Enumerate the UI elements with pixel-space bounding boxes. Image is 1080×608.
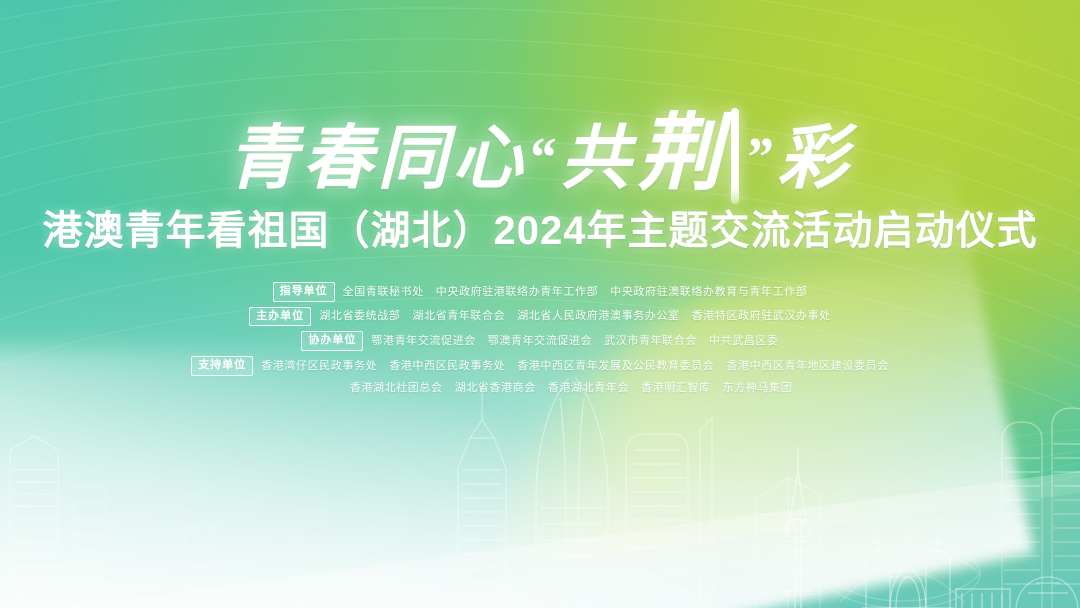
main-title-accent: 荆 (635, 108, 728, 201)
main-title-part3: 彩 (778, 121, 853, 198)
poster-content: 青春同心“共荆”彩 港澳青年看祖国（湖北）2024年主题交流活动启动仪式 指导单… (0, 0, 1080, 608)
main-title-part2: 共 (560, 121, 635, 198)
credit-label-coorganizer: 协办单位 (301, 331, 363, 351)
credit-row: 协办单位 鄂港青年交流促进会鄂澳青年交流促进会武汉市青年联合会中共武昌区委 (301, 331, 778, 351)
brush-stroke-accent (731, 108, 739, 204)
credit-label-guidance: 指导单位 (273, 282, 335, 302)
subtitle: 港澳青年看祖国（湖北）2024年主题交流活动启动仪式 (0, 208, 1080, 254)
main-title: 青春同心“共荆”彩 (0, 108, 1080, 197)
quote-open: “ (527, 127, 560, 189)
main-title-part1: 青春同心 (227, 121, 527, 198)
credit-row: 主办单位 湖北省委统战部湖北省青年联合会湖北省人民政府港澳事务办公室香港特区政府… (249, 307, 831, 327)
credit-orgs-coorganizer: 鄂港青年交流促进会鄂澳青年交流促进会武汉市青年联合会中共武昌区委 (371, 334, 778, 348)
quote-close: ” (745, 127, 778, 189)
credit-label-organizer: 主办单位 (249, 307, 311, 327)
credit-orgs-guidance: 全国青联秘书处中央政府驻港联络办青年工作部中央政府驻澳联络办教育与青年工作部 (343, 285, 808, 299)
credits-block: 指导单位 全国青联秘书处中央政府驻港联络办青年工作部中央政府驻澳联络办教育与青年… (0, 282, 1080, 395)
credit-orgs-supporter-line2: 香港湖北社团总会湖北省香港商会香港湖北青年会香港明汇智库东方神马集团 (350, 381, 792, 395)
event-poster: 青春同心“共荆”彩 港澳青年看祖国（湖北）2024年主题交流活动启动仪式 指导单… (0, 0, 1080, 608)
credit-row: 支持单位 香港湾仔区民政事务处香港中西区民政事务处香港中西区青年发展及公民教育委… (191, 356, 889, 376)
credit-row-continued: 香港湖北社团总会湖北省香港商会香港湖北青年会香港明汇智库东方神马集团 (350, 381, 792, 395)
credit-label-supporter: 支持单位 (191, 356, 253, 376)
credit-row: 指导单位 全国青联秘书处中央政府驻港联络办青年工作部中央政府驻澳联络办教育与青年… (273, 282, 808, 302)
credit-orgs-supporter: 香港湾仔区民政事务处香港中西区民政事务处香港中西区青年发展及公民教育委员会香港中… (261, 359, 889, 373)
credit-orgs-organizer: 湖北省委统战部湖北省青年联合会湖北省人民政府港澳事务办公室香港特区政府驻武汉办事… (319, 309, 831, 323)
